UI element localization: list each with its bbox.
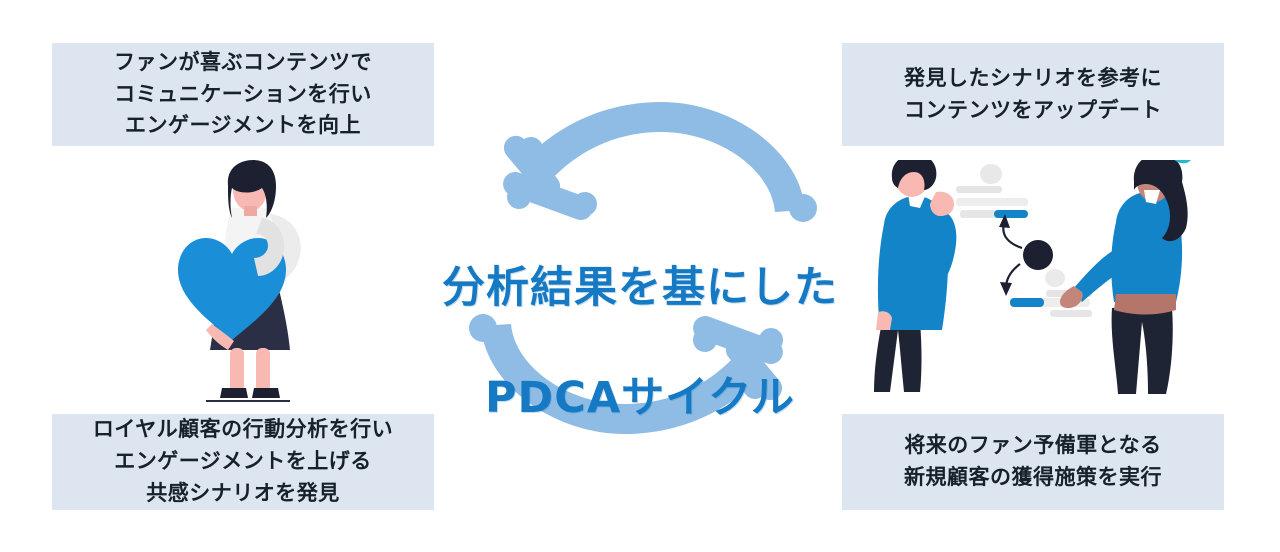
- card-accent-bar-top: [994, 210, 1028, 218]
- person-left-pants: [874, 322, 922, 392]
- person-right: [1060, 160, 1192, 394]
- shoe-right: [252, 388, 280, 398]
- caption-text-top-left: ファンが喜ぶコンテンツで コミュニケーションを行い エンゲージメントを向上: [114, 47, 372, 143]
- caption-text-bottom-left: ロイヤル顧客の行動分析を行い エンゲージメントを上げる 共感シナリオを発見: [93, 414, 393, 510]
- card-accent-bar-bottom: [1010, 298, 1044, 307]
- arrow-head-down: [1000, 282, 1012, 296]
- page-title-line-1: 分析結果を基にした: [395, 261, 885, 316]
- caption-box-top-right: 発見したシナリオを参考に コンテンツをアップデート: [842, 43, 1224, 146]
- caption-box-bottom-right: 将来のファン予備軍となる 新規顧客の獲得施策を実行: [842, 414, 1224, 510]
- caption-box-top-left: ファンが喜ぶコンテンツで コミュニケーションを行い エンゲージメントを向上: [52, 43, 434, 146]
- caption-text-top-right: 発見したシナリオを参考に コンテンツをアップデート: [904, 63, 1162, 127]
- connector-arrows-icon: [1003, 220, 1022, 288]
- person-left-pocket-hand: [876, 311, 892, 330]
- connector-node: [1023, 240, 1053, 270]
- person-right-waist: [1114, 294, 1176, 315]
- page-title-line-2: PDCAサイクル: [395, 371, 885, 426]
- shoe-left: [220, 388, 248, 398]
- card-line-1: [956, 186, 1002, 193]
- leg-right: [256, 348, 270, 392]
- card-line-6: [1050, 310, 1092, 317]
- woman-holding-heart-illustration: [150, 160, 350, 405]
- two-people-reviewing-data-illustration: [860, 160, 1205, 400]
- data-card-top: [956, 164, 1028, 218]
- caption-text-bottom-right: 将来のファン予備軍となる 新規顧客の獲得施策を実行: [904, 430, 1162, 494]
- card-line-2: [956, 198, 1028, 206]
- caption-box-bottom-left: ロイヤル顧客の行動分析を行い エンゲージメントを上げる 共感シナリオを発見: [52, 414, 434, 510]
- page-title: 分析結果を基にした PDCAサイクル: [395, 206, 885, 481]
- leg-left: [230, 348, 244, 392]
- avatar-circle-bottom: [1045, 269, 1065, 287]
- neck: [244, 206, 257, 216]
- person-left: [874, 160, 956, 392]
- person-left-hand: [930, 192, 954, 216]
- ground-line: [206, 400, 290, 402]
- person-right-pants: [1112, 308, 1173, 394]
- avatar-circle-top: [980, 164, 1002, 184]
- infographic-canvas: ファンが喜ぶコンテンツで コミュニケーションを行い エンゲージメントを向上 ロイ…: [0, 0, 1280, 552]
